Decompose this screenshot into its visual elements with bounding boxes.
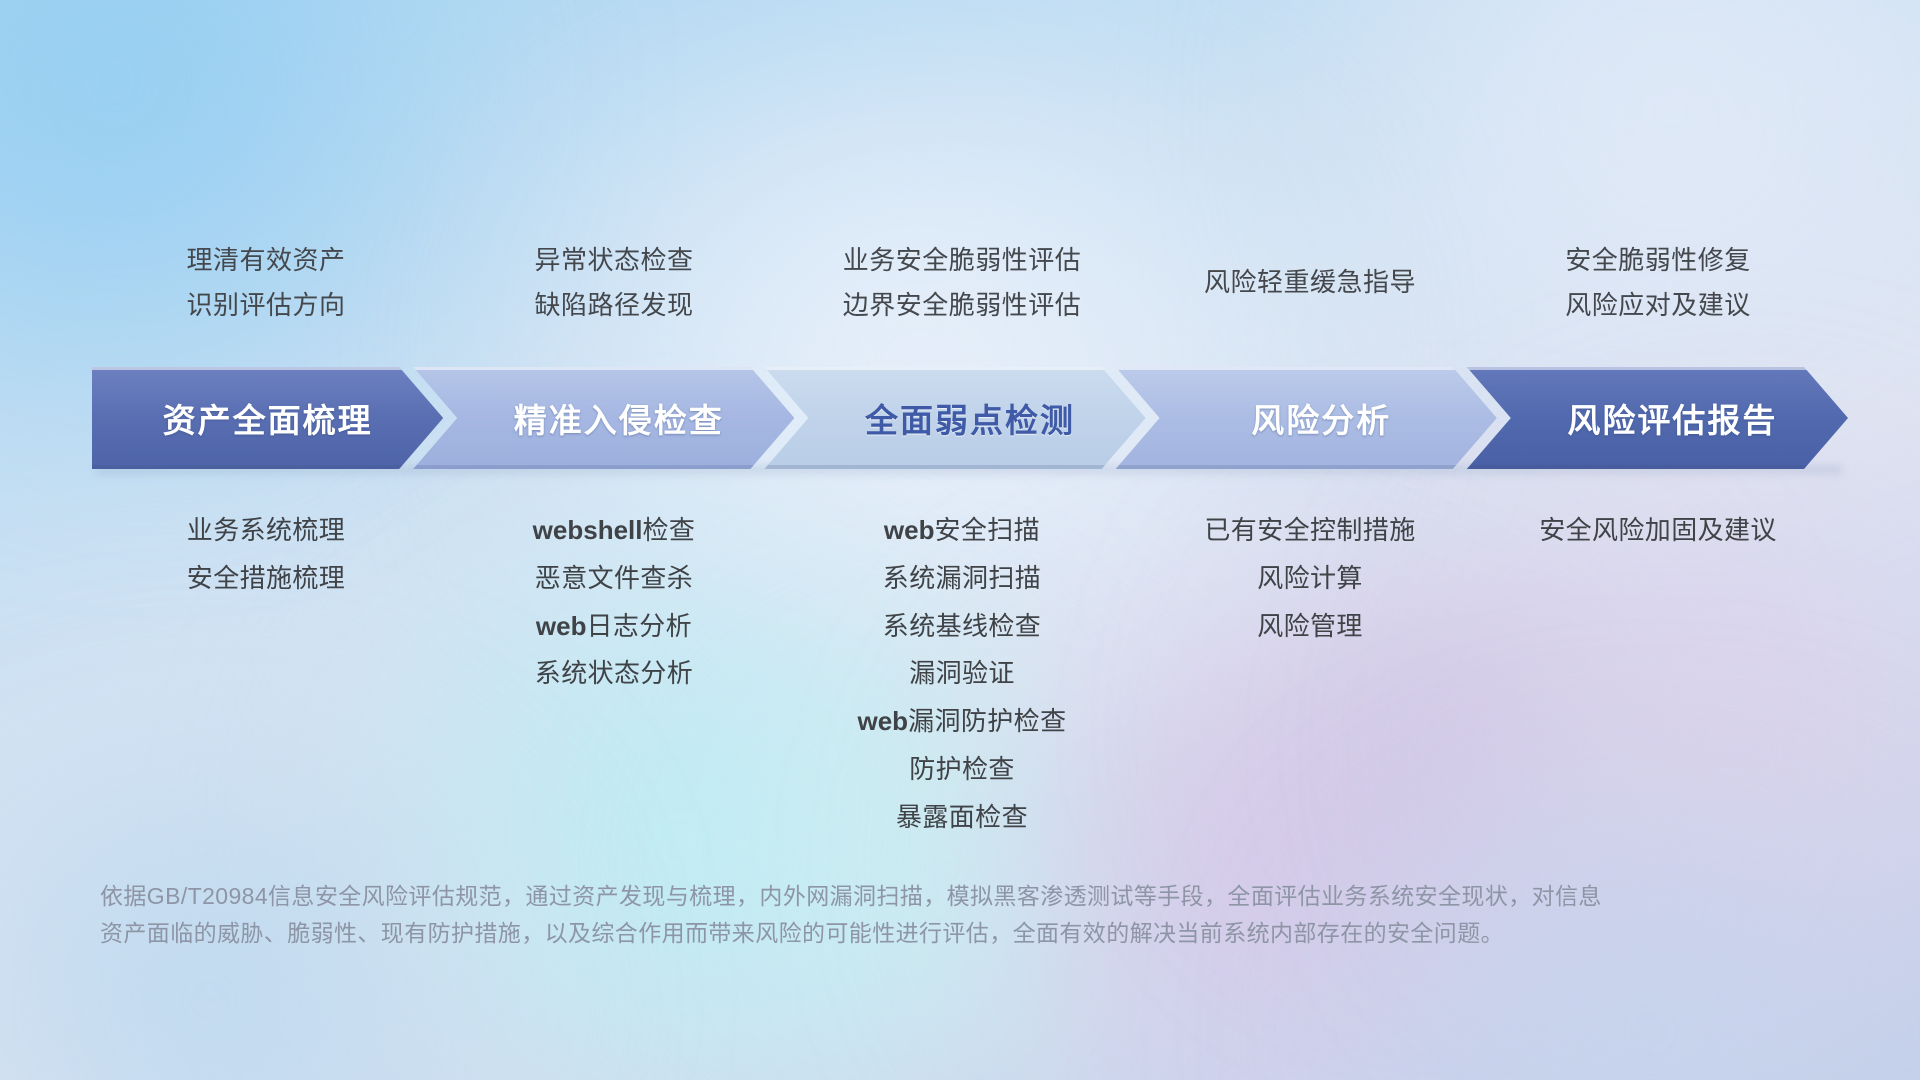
top-captions-risk-report: 安全脆弱性修复 风险应对及建议: [1484, 228, 1832, 338]
process-diagram: 理清有效资产 识别评估方向 异常状态检查 缺陷路径发现 业务安全脆弱性评估 边界…: [0, 0, 1920, 1080]
caption: 异常状态检查: [534, 244, 693, 277]
chevron-stage-weakness-detection[interactable]: 全面弱点检测: [764, 367, 1145, 469]
chevron-label: 精准入侵检查: [514, 394, 724, 442]
top-captions-weakness-detection: 业务安全脆弱性评估 边界安全脆弱性评估: [788, 228, 1136, 338]
detail-list-weakness-detection: web安全扫描 系统漏洞扫描 系统基线检查 漏洞验证 web漏洞防护检查 防护检…: [788, 500, 1136, 860]
latin-prefix: web: [536, 611, 587, 641]
chevron-label: 资产全面梳理: [163, 394, 373, 442]
chevron-top-highlight: [1467, 367, 1848, 370]
list-item: 风险管理: [1257, 610, 1363, 644]
chevron-bottom-shade: [413, 465, 794, 469]
footer-line-2: 资产面临的威胁、脆弱性、现有防护措施，以及综合作用而带来风险的可能性进行评估，全…: [100, 915, 1760, 952]
chevron-label: 全面弱点检测: [865, 394, 1075, 442]
caption: 缺陷路径发现: [534, 289, 693, 322]
list-item: 安全措施梳理: [187, 562, 345, 596]
list-item: 系统状态分析: [535, 657, 693, 691]
latin-prefix: web: [858, 706, 909, 736]
caption: 业务安全脆弱性评估: [843, 244, 1082, 277]
chevron-label: 风险评估报告: [1567, 394, 1777, 442]
detail-list-asset-inventory: 业务系统梳理 安全措施梳理: [92, 500, 440, 860]
chevron-bottom-shade: [764, 465, 1145, 469]
list-item: 漏洞验证: [909, 657, 1015, 691]
list-item: 风险计算: [1257, 562, 1363, 596]
list-item: 已有安全控制措施: [1204, 514, 1415, 548]
list-item: 业务系统梳理: [187, 514, 345, 548]
caption: 风险轻重缓急指导: [1204, 266, 1416, 299]
chevron-top-highlight: [92, 367, 443, 370]
footer-description: 依据GB/T20984信息安全风险评估规范，通过资产发现与梳理，内外网漏洞扫描，…: [100, 878, 1760, 953]
caption: 识别评估方向: [186, 289, 345, 322]
chevron-label: 风险分析: [1251, 394, 1391, 442]
caption: 理清有效资产: [186, 244, 345, 277]
bottom-detail-row: 业务系统梳理 安全措施梳理 webshell检查 恶意文件查杀 web日志分析 …: [92, 500, 1832, 860]
chevron-bottom-shade: [1116, 465, 1497, 469]
top-caption-row: 理清有效资产 识别评估方向 异常状态检查 缺陷路径发现 业务安全脆弱性评估 边界…: [92, 228, 1832, 338]
chevron-top-highlight: [1116, 367, 1497, 370]
latin-prefix: webshell: [533, 515, 643, 545]
detail-list-risk-report: 安全风险加固及建议: [1484, 500, 1832, 860]
list-item: 系统漏洞扫描: [883, 562, 1041, 596]
chevron-bottom-shade: [1467, 465, 1848, 469]
caption: 边界安全脆弱性评估: [843, 289, 1082, 322]
list-item: webshell检查: [533, 514, 696, 548]
list-item: 防护检查: [909, 753, 1015, 787]
list-item: 系统基线检查: [883, 610, 1041, 644]
chevron-stage-intrusion-check[interactable]: 精准入侵检查: [413, 367, 794, 469]
footer-line-1: 依据GB/T20984信息安全风险评估规范，通过资产发现与梳理，内外网漏洞扫描，…: [100, 878, 1760, 915]
list-item: web安全扫描: [884, 514, 1040, 548]
chevron-top-highlight: [764, 367, 1145, 370]
caption: 安全脆弱性修复: [1565, 244, 1751, 277]
top-captions-asset-inventory: 理清有效资产 识别评估方向: [92, 228, 440, 338]
chevron-stage-risk-analysis[interactable]: 风险分析: [1116, 367, 1497, 469]
chevron-top-highlight: [413, 367, 794, 370]
top-captions-risk-analysis: 风险轻重缓急指导: [1136, 228, 1484, 338]
chevron-stage-risk-report[interactable]: 风险评估报告: [1467, 367, 1848, 469]
list-item: 恶意文件查杀: [535, 562, 693, 596]
top-captions-intrusion-check: 异常状态检查 缺陷路径发现: [440, 228, 788, 338]
chevron-banner: 资产全面梳理 精准入侵检查 全面弱点检测 风险分析 风险评估报告: [92, 367, 1848, 469]
list-item: 安全风险加固及建议: [1539, 514, 1777, 548]
list-item: web日志分析: [536, 610, 692, 644]
detail-list-intrusion-check: webshell检查 恶意文件查杀 web日志分析 系统状态分析: [440, 500, 788, 860]
detail-list-risk-analysis: 已有安全控制措施 风险计算 风险管理: [1136, 500, 1484, 860]
latin-prefix: web: [884, 515, 935, 545]
chevron-bottom-shade: [92, 465, 443, 469]
list-item: 暴露面检查: [896, 801, 1028, 835]
caption: 风险应对及建议: [1565, 289, 1751, 322]
list-item: web漏洞防护检查: [858, 705, 1067, 739]
chevron-stage-asset-inventory[interactable]: 资产全面梳理: [92, 367, 443, 469]
